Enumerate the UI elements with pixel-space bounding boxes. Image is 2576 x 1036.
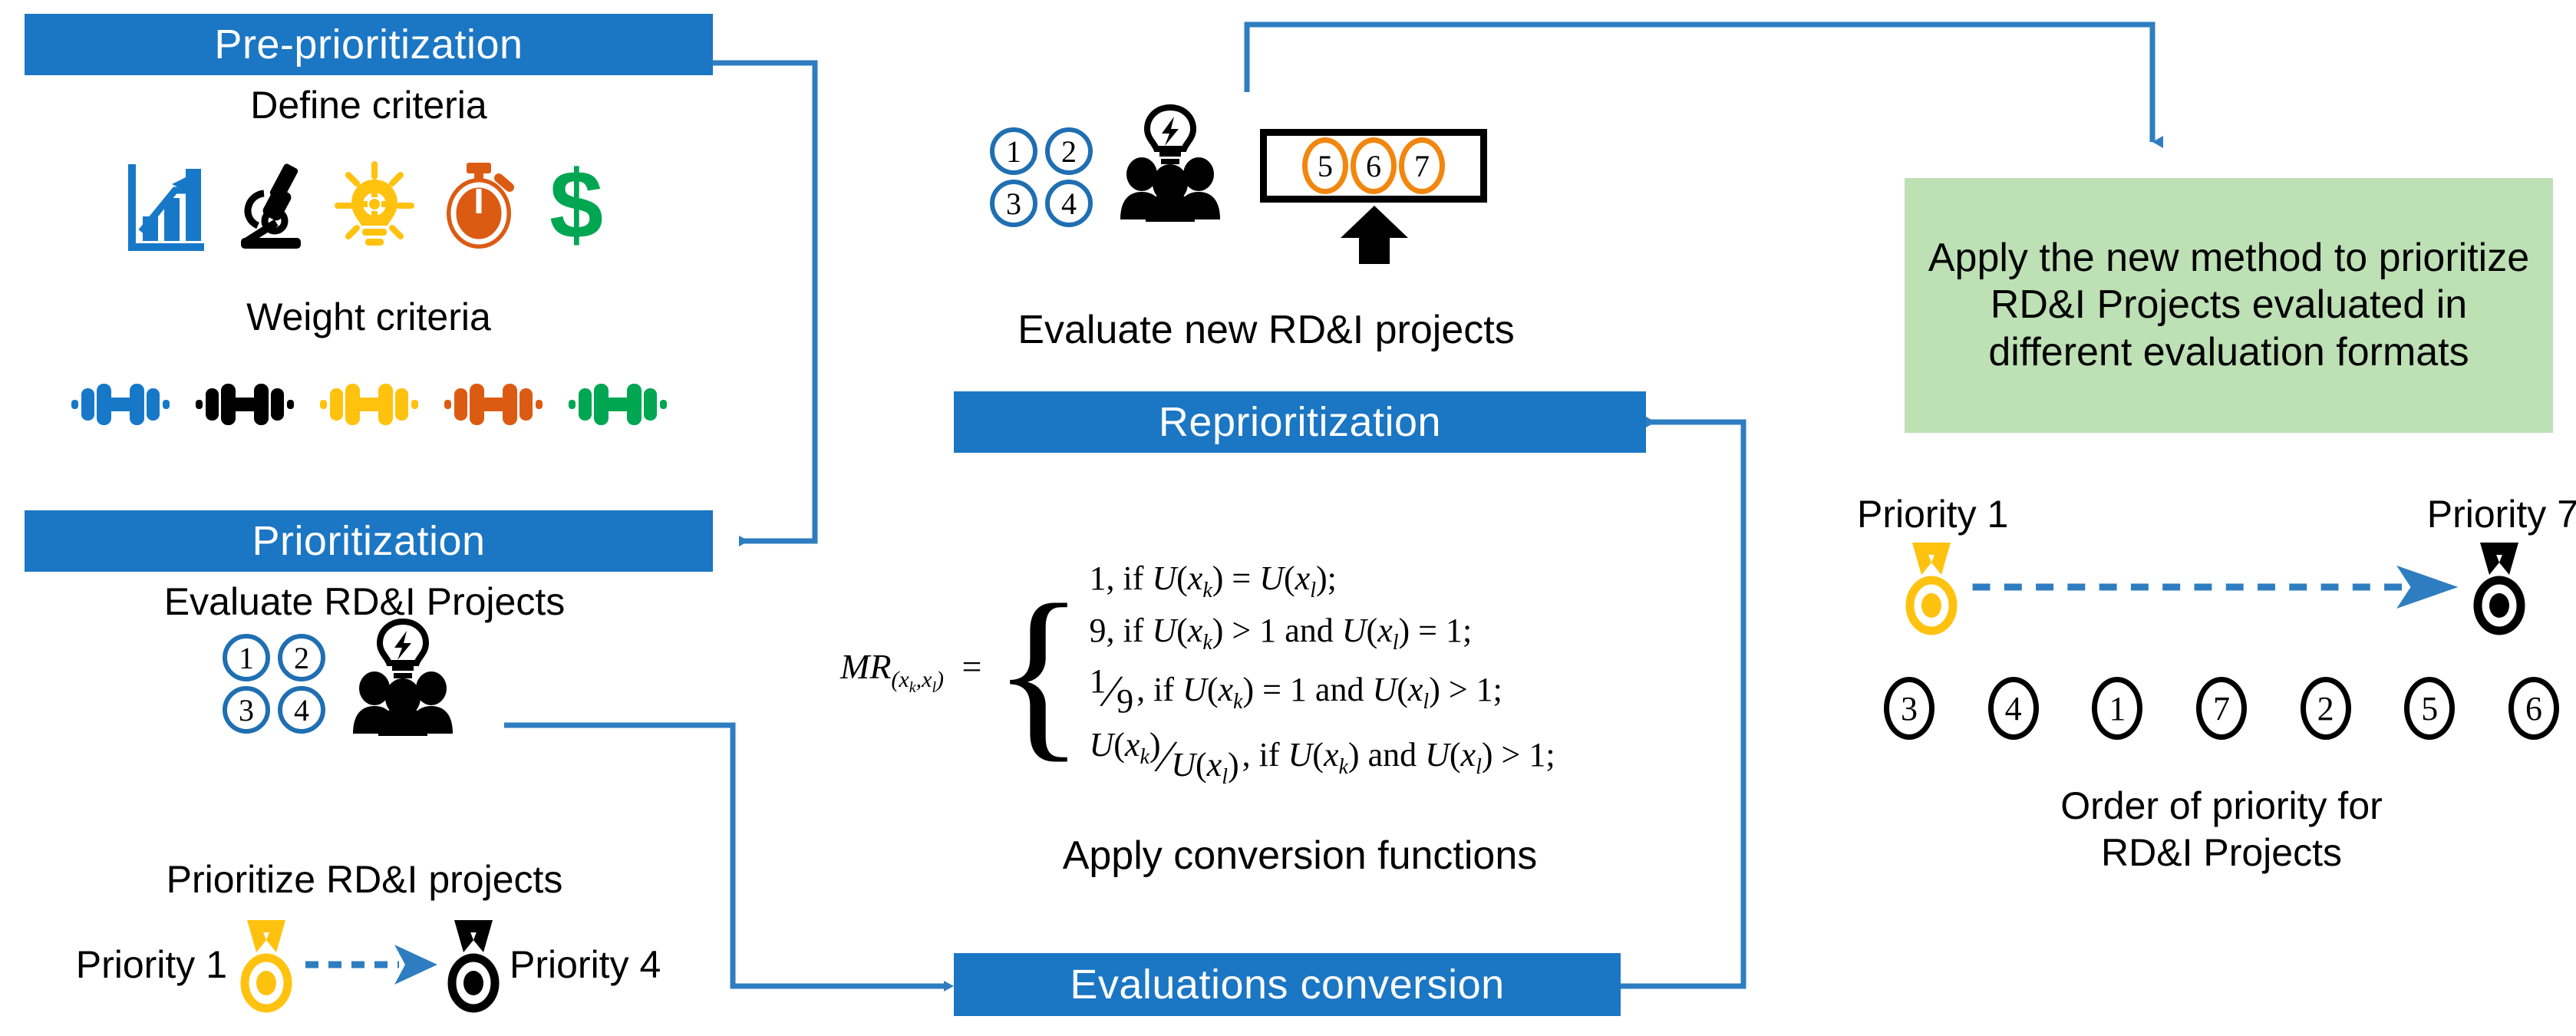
- stopwatch-icon: [439, 161, 519, 252]
- formula-case-line: 1, if U(xk) = U(xl);: [1089, 554, 1555, 607]
- formula-case-line: 9, if U(xk) > 1 and U(xl) = 1;: [1089, 606, 1555, 659]
- lightbulb-gear-icon: [333, 161, 416, 252]
- ranked-project-oval: 7: [2196, 677, 2247, 740]
- prioritization-header: Prioritization: [25, 510, 713, 572]
- reprioritization-header: Reprioritization: [954, 391, 1646, 453]
- result-priority-last-label: Priority 7: [2427, 492, 2576, 536]
- result-medal-row: [1857, 537, 2576, 637]
- diagram-canvas: Pre-prioritization Define criteria: [0, 0, 2576, 1036]
- dumbbell-yellow-icon: [317, 377, 421, 432]
- dumbbell-orange-icon: [441, 377, 546, 432]
- conversion-formula: MR(xk,xl) = { 1, if U(xk) = U(xl); 9, if…: [840, 537, 1746, 806]
- black-medal-icon: [2471, 539, 2528, 635]
- result-priority-first-label: Priority 1: [1857, 492, 2008, 536]
- evaluations-conversion-title: Evaluations conversion: [1070, 961, 1504, 1008]
- prioritization-title: Prioritization: [252, 517, 485, 565]
- existing-project-number-grid: 1 2 3 4: [990, 127, 1094, 227]
- project-number-oval: 3: [223, 686, 270, 734]
- new-project-number-oval: 6: [1351, 137, 1397, 194]
- project-number-grid: 1 2 3 4: [223, 634, 327, 734]
- people-group-idea-icon: [345, 617, 460, 736]
- ranked-project-oval: 4: [1988, 677, 2039, 740]
- pre-prioritization-header: Pre-prioritization: [25, 14, 713, 75]
- evaluate-new-projects-group: 1 2 3 4 5 6 7: [990, 109, 1619, 239]
- formula-case-line: U(xk)⁄U(xl) , if U(xk) and U(xl) > 1;: [1089, 724, 1555, 790]
- black-medal-icon: [445, 917, 502, 1012]
- project-number-oval: 1: [990, 127, 1037, 175]
- project-number-oval: 4: [1045, 180, 1093, 227]
- result-callout-box: Apply the new method to prioritize RD&I …: [1905, 178, 2553, 433]
- black-up-arrow-icon: [1339, 204, 1410, 264]
- prioritization-projects-group: 1 2 3 4: [223, 634, 545, 735]
- weight-icon-row: [25, 370, 713, 439]
- gold-medal-icon: [238, 917, 295, 1012]
- ranked-project-oval: 1: [2092, 677, 2142, 740]
- dumbbell-black-icon: [193, 377, 297, 432]
- prioritize-projects-label: Prioritize RD&I projects: [8, 857, 721, 902]
- formula-cases: 1, if U(xk) = U(xl); 9, if U(xk) > 1 and…: [1089, 554, 1555, 790]
- project-number-oval: 4: [278, 686, 325, 734]
- project-number-oval: 2: [1045, 127, 1093, 175]
- result-priority-labels: Priority 1 Priority 7: [1857, 491, 2576, 537]
- people-group-idea-icon: [1113, 103, 1228, 222]
- ranked-projects-row: 3 4 1 7 2 5 6: [1884, 675, 2559, 741]
- dashed-arrow-right-icon: [1969, 564, 2462, 610]
- ranked-project-oval: 6: [2508, 677, 2559, 740]
- formula-brace: {: [992, 593, 1084, 751]
- reprioritization-title: Reprioritization: [1159, 398, 1441, 446]
- formula-mr-symbol: MR: [840, 647, 891, 686]
- ranked-project-oval: 5: [2404, 677, 2455, 740]
- new-projects-box: 5 6 7: [1260, 129, 1487, 203]
- dumbbell-blue-icon: [68, 377, 173, 432]
- evaluate-new-caption: Evaluate new RD&I projects: [913, 307, 1619, 353]
- project-number-oval: 3: [990, 180, 1037, 227]
- result-caption-line-2: RD&I Projects: [1884, 830, 2559, 876]
- ranked-project-oval: 2: [2301, 677, 2351, 740]
- evaluations-conversion-header: Evaluations conversion: [954, 953, 1621, 1016]
- formula-equals: =: [962, 647, 982, 686]
- formula-case-line: 1⁄9 , if U(xk) = 1 and U(xl) > 1;: [1089, 659, 1555, 724]
- connector-preprioritization-to-prioritization: [713, 63, 815, 541]
- weight-criteria-label: Weight criteria: [25, 295, 713, 339]
- new-project-number-oval: 5: [1302, 137, 1348, 194]
- new-project-number-oval: 7: [1399, 137, 1445, 194]
- bar-chart-growth-icon: [127, 161, 207, 252]
- priority-last-label: Priority 4: [510, 942, 661, 987]
- result-caption-line-1: Order of priority for: [1884, 783, 2559, 830]
- dollar-sign-icon: $: [542, 160, 611, 252]
- gold-medal-icon: [1903, 539, 1960, 635]
- priority-first-label: Priority 1: [76, 942, 227, 987]
- criteria-icon-row: $: [25, 152, 713, 252]
- dumbbell-green-icon: [566, 377, 670, 432]
- prioritization-result-row: Priority 1 Prior: [15, 915, 721, 1015]
- project-number-oval: 1: [223, 634, 270, 681]
- define-criteria-label: Define criteria: [25, 83, 713, 127]
- formula-left-hand-side: MR(xk,xl) =: [840, 646, 981, 696]
- apply-conversion-functions-label: Apply conversion functions: [954, 833, 1646, 879]
- svg-text:$: $: [549, 150, 602, 259]
- pre-prioritization-title: Pre-prioritization: [214, 21, 523, 68]
- dashed-arrow-right-icon: [302, 942, 440, 988]
- result-caption: Order of priority for RD&I Projects: [1884, 783, 2559, 876]
- microscope-icon: [230, 161, 310, 252]
- result-callout-text: Apply the new method to prioritize RD&I …: [1918, 235, 2539, 376]
- ranked-project-oval: 3: [1884, 677, 1934, 740]
- project-number-oval: 2: [278, 634, 325, 681]
